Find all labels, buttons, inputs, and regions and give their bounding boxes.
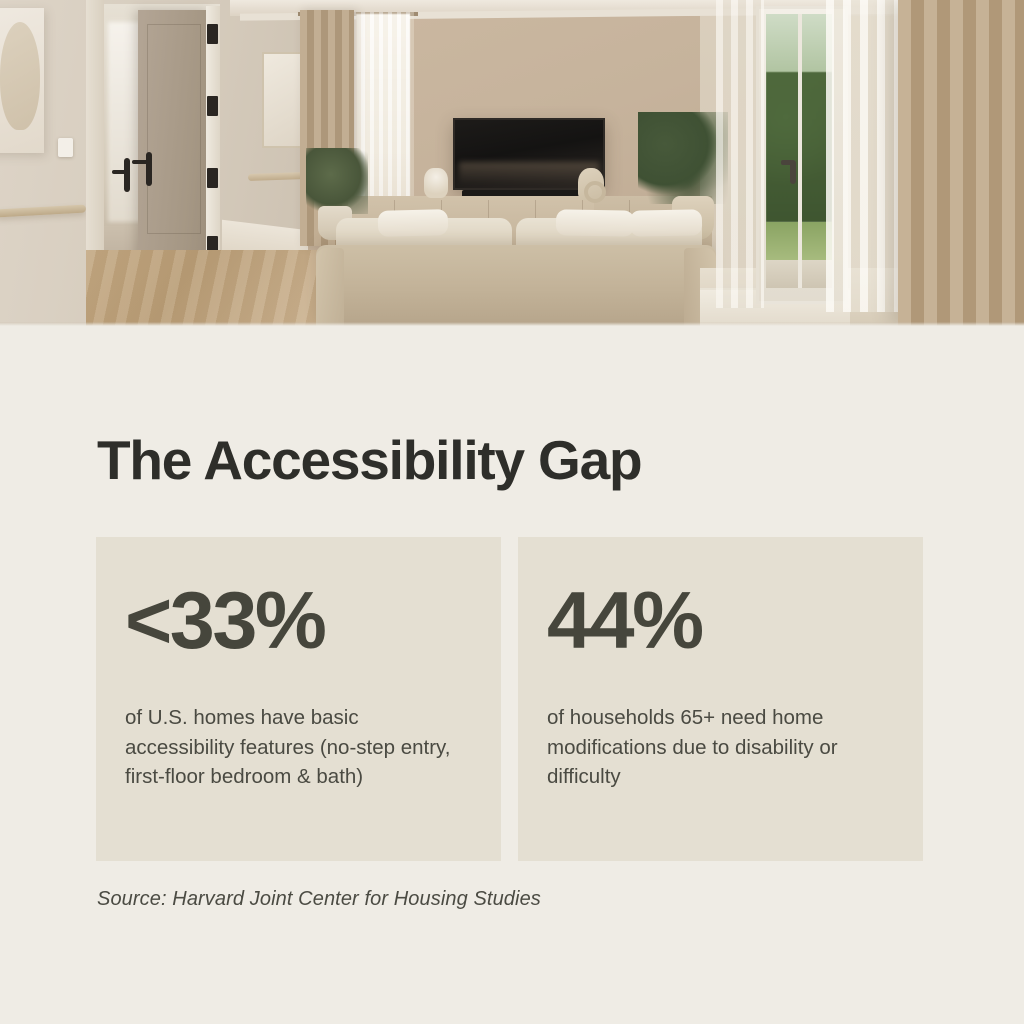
throw-pillow — [378, 209, 449, 237]
light-switch-icon — [58, 138, 73, 157]
potted-tree-foliage — [306, 148, 368, 214]
wall-art-hallway — [262, 52, 302, 148]
sofa-arm-left — [316, 248, 344, 326]
stat-value: 44% — [547, 581, 893, 662]
page-title: The Accessibility Gap — [97, 433, 641, 488]
stat-card-group: <33% of U.S. homes have basic accessibil… — [96, 537, 928, 861]
wood-floor — [86, 250, 326, 326]
stat-card: 44% of households 65+ need home modifica… — [518, 537, 923, 861]
stat-description: of households 65+ need home modification… — [547, 703, 893, 792]
sheer-curtain-inner — [716, 0, 764, 308]
throw-pillow — [630, 209, 702, 236]
source-attribution: Source: Harvard Joint Center for Housing… — [97, 888, 541, 911]
stat-card: <33% of U.S. homes have basic accessibil… — [96, 537, 501, 861]
door-hinge-icon — [207, 24, 218, 44]
wall-art-left — [0, 8, 44, 153]
drape-curtain-right — [898, 0, 1024, 326]
door-handle-icon — [146, 152, 152, 186]
living-room-scene — [0, 0, 1024, 326]
stat-value: <33% — [125, 581, 471, 662]
door-hinge-icon — [207, 168, 218, 188]
accessibility-gap-infographic: The Accessibility Gap <33% of U.S. homes… — [0, 0, 1024, 1024]
patio-door-mullion — [798, 14, 802, 288]
stat-description: of U.S. homes have basic accessibility f… — [125, 703, 471, 792]
door-handle-icon — [124, 158, 130, 192]
sofa — [316, 245, 716, 326]
door-hinge-icon — [207, 96, 218, 116]
throw-pillow — [556, 209, 634, 236]
patio-door-handle-icon — [790, 160, 796, 184]
content-panel: The Accessibility Gap <33% of U.S. homes… — [0, 326, 1024, 1024]
hero-photo — [0, 0, 1024, 326]
monstera-plant — [638, 112, 728, 204]
decor-sculpture — [578, 168, 604, 200]
vase-with-flowers — [424, 168, 448, 198]
